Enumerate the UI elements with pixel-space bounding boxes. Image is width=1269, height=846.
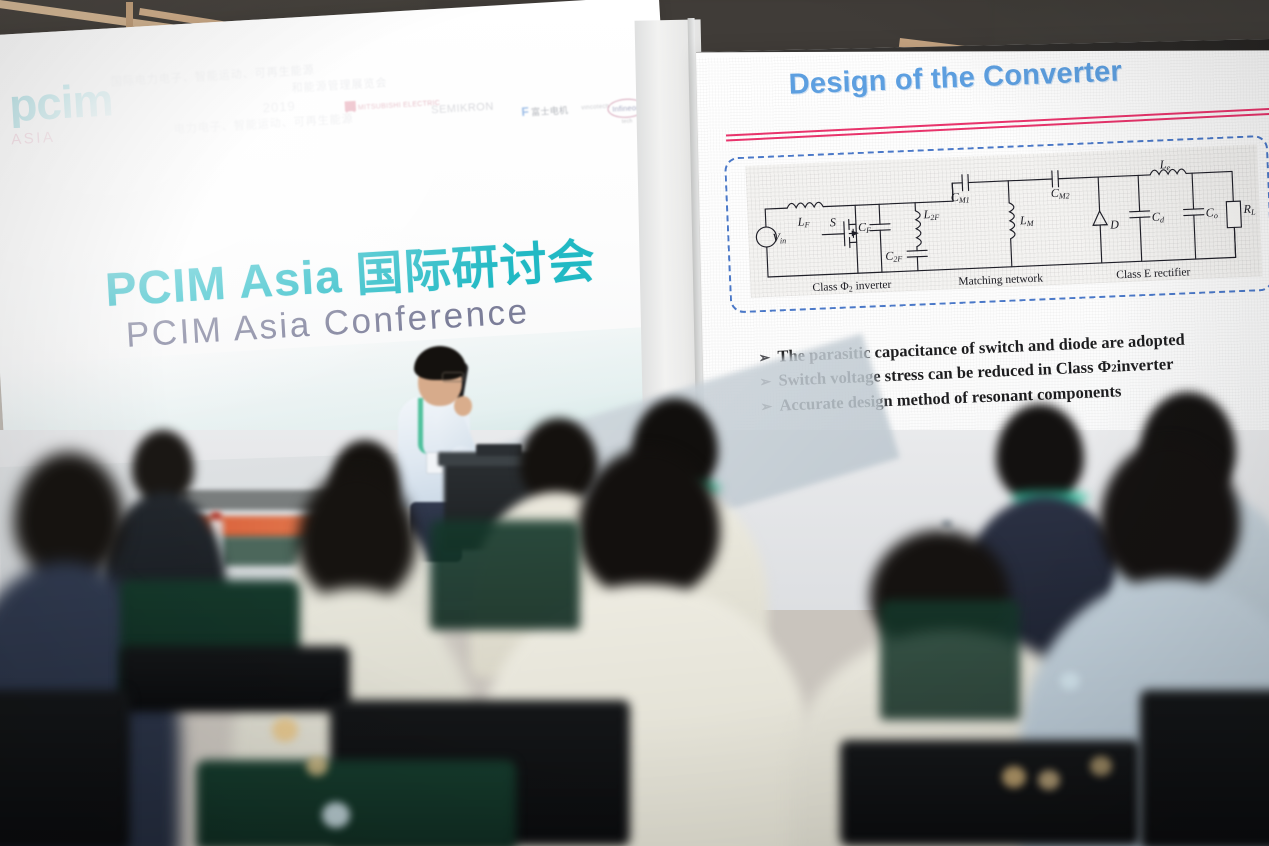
svg-text:Cd: Cd xyxy=(1152,209,1166,225)
svg-text:LM: LM xyxy=(1019,213,1035,229)
bokeh-highlight xyxy=(306,756,328,776)
sponsor-logo-semikron: SEMIKRON xyxy=(431,101,494,117)
svg-text:D: D xyxy=(1109,217,1120,231)
bokeh-highlight xyxy=(1060,672,1080,690)
svg-text:LF: LF xyxy=(796,214,809,230)
slide-title-rule-secondary xyxy=(726,113,1269,141)
slide-title-rule xyxy=(726,108,1269,137)
bokeh-highlight xyxy=(272,718,298,742)
svg-text:RL: RL xyxy=(1242,201,1256,217)
bokeh-highlight xyxy=(1090,756,1112,776)
sponsor-logo-mitsubishi: MITSUBISHI ELECTRIC xyxy=(345,96,441,113)
circuit-caption-matching: Matching network xyxy=(958,272,1043,288)
conference-photo-scene: pcim ASIA 国际电力电子、智能运动、可再生能源 和能源管理展览会 201… xyxy=(0,0,1269,846)
conference-chair xyxy=(196,760,516,846)
conference-chair xyxy=(880,600,1020,720)
pcim-logo: pcim ASIA xyxy=(8,76,115,147)
bokeh-highlight xyxy=(1038,770,1060,790)
conference-chair-back xyxy=(0,690,130,846)
svg-text:S: S xyxy=(830,215,837,229)
conference-chair-back xyxy=(1140,690,1269,846)
slide-title: Design of the Converter xyxy=(788,55,1122,101)
bullet-text-tail: inverter xyxy=(1116,353,1174,376)
svg-text:Le: Le xyxy=(1158,157,1170,172)
converter-circuit-diagram: Vin LF S CF L2F C2F CM1 LM CM2 D Cd Le C… xyxy=(745,144,1262,297)
svg-text:CM1: CM1 xyxy=(951,189,970,205)
bokeh-highlight xyxy=(1002,766,1026,788)
presenter-hand-left xyxy=(454,396,472,416)
sponsor-logo-fuji: F富士电机 xyxy=(521,102,569,119)
svg-text:C2F: C2F xyxy=(885,248,903,264)
mitsubishi-diamond-icon xyxy=(345,101,357,112)
pcim-logo-word: pcim xyxy=(8,76,114,128)
sponsor-logo-vincotech: vincotech xyxy=(581,104,609,112)
svg-text:Co: Co xyxy=(1205,205,1218,220)
circuit-caption-rectifier: Class E rectifier xyxy=(1116,266,1191,281)
conference-chair-back xyxy=(840,740,1140,846)
conference-chair-back xyxy=(120,646,350,712)
presenter-glasses-icon xyxy=(442,372,464,382)
bokeh-highlight xyxy=(322,802,350,828)
conference-chair xyxy=(430,520,580,630)
svg-text:L2F: L2F xyxy=(922,207,939,223)
pcim-logo-region: ASIA xyxy=(11,126,115,147)
svg-text:CF: CF xyxy=(858,220,872,236)
svg-text:Vin: Vin xyxy=(772,230,786,246)
svg-text:CM2: CM2 xyxy=(1050,185,1069,201)
